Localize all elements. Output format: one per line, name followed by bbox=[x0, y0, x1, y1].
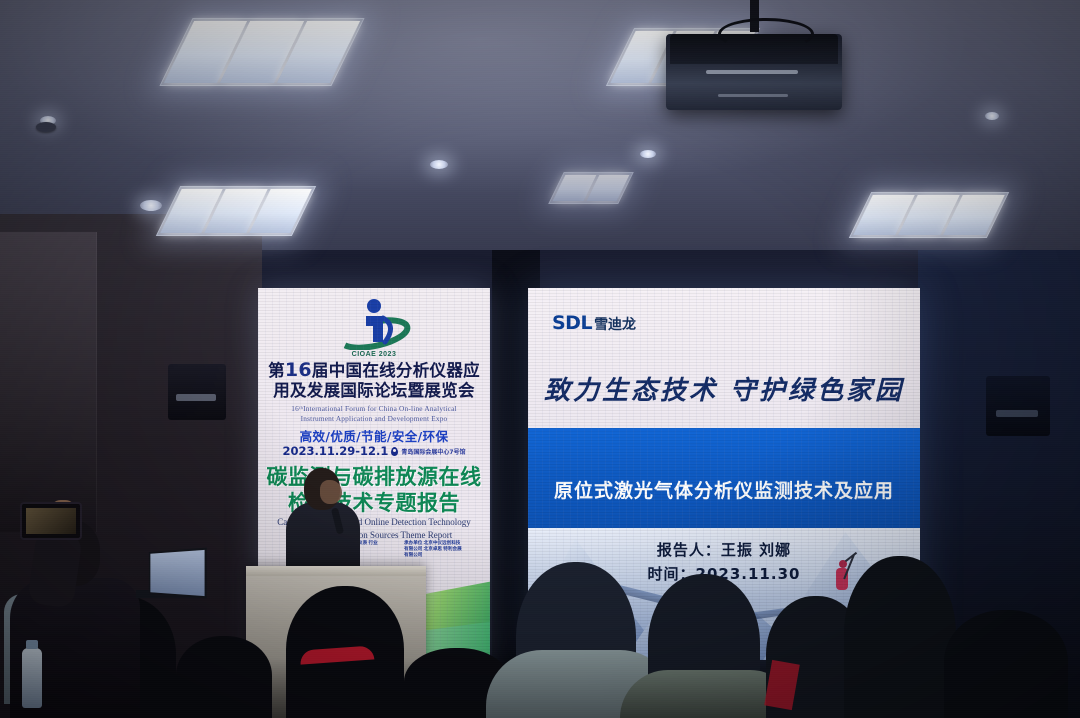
location-pin-icon bbox=[391, 447, 398, 456]
audience-head-9 bbox=[944, 610, 1068, 718]
sdl-logo: SDL 雪迪龙 bbox=[552, 312, 636, 334]
downlight-3 bbox=[430, 160, 448, 169]
cioae-logo-text: CIOAE 2023 bbox=[333, 351, 415, 358]
english-line-1: 16ᵗʰInternational Forum for China On-lin… bbox=[291, 404, 457, 413]
wall-speaker-left bbox=[168, 364, 226, 420]
english-line-2: Instrument Application and Development E… bbox=[301, 414, 448, 423]
podium-top-surface bbox=[246, 566, 426, 576]
event-date: 2023.11.29-12.1 bbox=[282, 444, 388, 458]
projector-vent bbox=[706, 70, 798, 74]
presenter-face bbox=[320, 480, 342, 504]
smoke-detector bbox=[36, 122, 56, 132]
ceiling-projector bbox=[666, 8, 842, 110]
projector-vent-secondary bbox=[718, 94, 788, 97]
downlight-4 bbox=[640, 150, 656, 158]
water-bottle bbox=[22, 648, 42, 708]
company-slogan: 致力生态技术 守护绿色家园 bbox=[528, 370, 920, 407]
presenter-names: 报告人：王振 刘娜 bbox=[657, 541, 791, 559]
laptop-screen bbox=[149, 548, 207, 599]
troffer-light-4 bbox=[849, 192, 1009, 238]
left-banner-slogan: 高效/优质/节能/安全/环保 bbox=[258, 426, 490, 445]
smartphone-icon bbox=[20, 502, 82, 540]
left-banner-date-row: 2023.11.29-12.1 青岛国际会展中心7号馆 bbox=[258, 444, 490, 458]
event-venue: 青岛国际会展中心7号馆 bbox=[401, 447, 465, 456]
left-banner-english-title: 16ᵗʰInternational Forum for China On-lin… bbox=[266, 404, 482, 423]
troffer-light-3 bbox=[156, 186, 316, 236]
wall-speaker-right bbox=[986, 376, 1050, 436]
audience-head-8 bbox=[844, 556, 956, 718]
sdl-logo-cn: 雪迪龙 bbox=[594, 314, 636, 334]
laptop bbox=[136, 550, 202, 600]
left-banner-title: 第16届中国在线分析仪器应 用及发展国际论坛暨展览会 bbox=[264, 360, 484, 401]
smartphone-screen bbox=[26, 508, 76, 534]
audience-head-2 bbox=[176, 636, 272, 718]
title-edition-number: 16 bbox=[285, 359, 312, 381]
sdl-logo-en: SDL bbox=[552, 312, 592, 334]
presentation-title: 原位式激光气体分析仪监测技术及应用 bbox=[528, 476, 920, 503]
troffer-light-1 bbox=[159, 18, 364, 86]
cioae-logo-icon: CIOAE 2023 bbox=[333, 298, 415, 356]
title-line-2: 用及发展国际论坛暨展览会 bbox=[273, 381, 475, 400]
projector-cable bbox=[718, 18, 814, 50]
title-prefix: 第 bbox=[268, 361, 285, 380]
conference-hall-photo: CIOAE 2023 第16届中国在线分析仪器应 用及发展国际论坛暨展览会 16… bbox=[0, 0, 1080, 718]
co-organizer-note: 承办单位 北京中仪远创科技 有限公司 北京卓思 特利会展有限公司 bbox=[404, 540, 466, 558]
downlight-1 bbox=[140, 200, 162, 211]
presenter-silhouette bbox=[286, 468, 360, 578]
slide-header-area bbox=[528, 288, 920, 428]
slide-title-band: 原位式激光气体分析仪监测技术及应用 bbox=[528, 428, 920, 528]
downlight-5 bbox=[985, 112, 999, 120]
title-suffix: 届中国在线分析仪器应 bbox=[312, 361, 480, 380]
bottle-cap bbox=[26, 640, 38, 649]
